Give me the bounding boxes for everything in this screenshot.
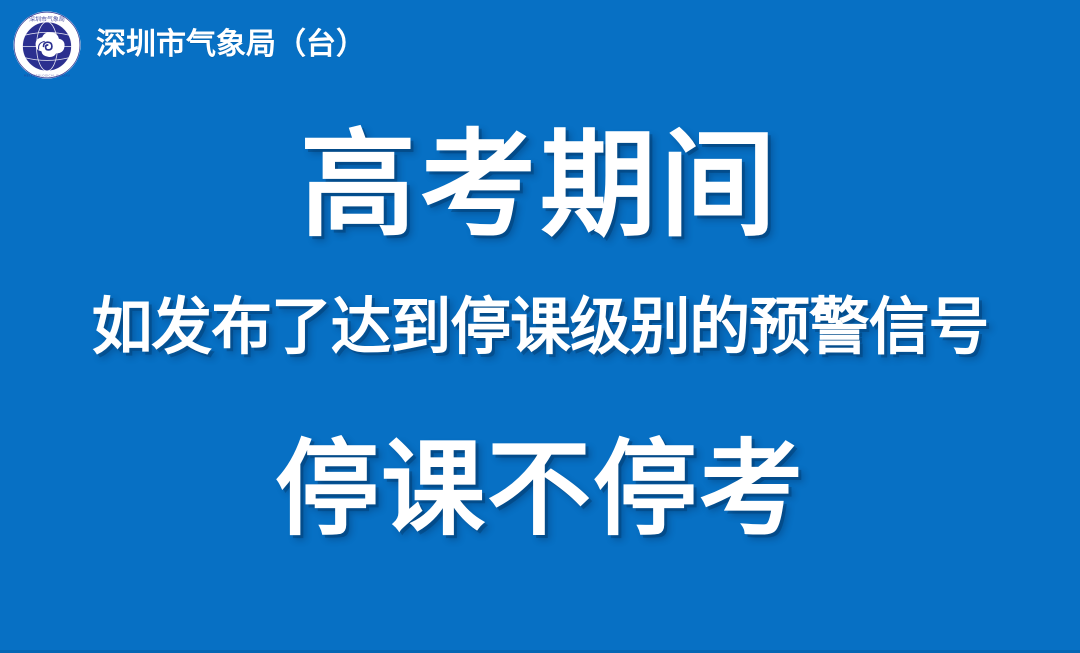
organization-name: 深圳市气象局（台）	[96, 30, 366, 60]
headline-line-1: 高考期间	[0, 128, 1080, 244]
header: 深圳市气象局 METEOROLOGICAL BUREAU 深圳市气象局（台）	[12, 10, 366, 80]
shenzhen-meteorological-bureau-logo-icon: 深圳市气象局 METEOROLOGICAL BUREAU	[12, 10, 82, 80]
headline-line-2: 如发布了达到停课级别的预警信号	[11, 296, 1069, 358]
headline-block: 高考期间 如发布了达到停课级别的预警信号 停课不停考	[0, 0, 1080, 653]
headline-line-3: 停课不停考	[0, 437, 1080, 541]
svg-text:METEOROLOGICAL BUREAU: METEOROLOGICAL BUREAU	[24, 74, 70, 78]
announcement-poster: 深圳市气象局 METEOROLOGICAL BUREAU 深圳市气象局（台）	[0, 0, 1080, 653]
